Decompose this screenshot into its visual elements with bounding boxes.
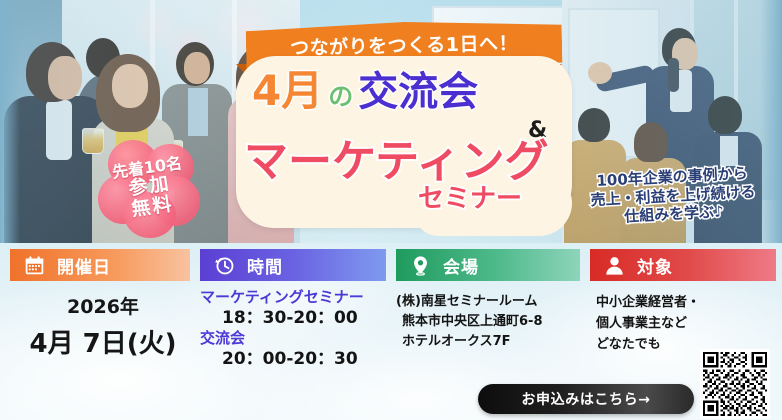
info-content-target: 中小企業経営者・ 個人事業主など どなたでも <box>596 292 780 355</box>
speaker-hand <box>588 62 612 84</box>
info-header-place: 会場 <box>396 249 580 281</box>
venue-name: (株)南星セミナールーム <box>396 292 592 312</box>
event-year: 2026年 <box>10 292 196 319</box>
title-month: 4月 <box>252 70 323 112</box>
info-content-time: マーケティングセミナー 18：30-20：00 交流会 20：00-20：30 <box>200 288 390 370</box>
target-line-2: 個人事業主など <box>596 313 780 334</box>
info-content-place: (株)南星セミナールーム 熊本市中央区上通町6-8 ホテルオークス7F <box>396 292 592 352</box>
person-senior-man-shirt <box>188 88 208 136</box>
info-header-time: 時間 <box>200 249 386 281</box>
clock-icon <box>214 255 235 276</box>
time-item-label: 交流会 <box>200 329 390 348</box>
info-header-target: 対象 <box>590 249 776 281</box>
seminar-caption: 100年企業の事例から 売上・利益を上げ続ける 仕組みを学ぶ♪ <box>565 162 782 229</box>
time-item-label: マーケティングセミナー <box>200 288 390 307</box>
time-item-value: 20：00-20：30 <box>200 348 390 370</box>
person-front-woman-face <box>112 64 148 108</box>
title-line-1: 4月 の 交流会 <box>252 70 572 112</box>
person-icon <box>604 255 625 276</box>
audience-member-head <box>578 108 610 142</box>
info-header-date: 開催日 <box>10 249 190 281</box>
venue-floor: ホテルオークス7F <box>396 332 592 352</box>
qr-code-image <box>703 352 767 416</box>
apply-button[interactable]: お申込みはこちら→ <box>478 384 694 414</box>
qr-code[interactable] <box>700 349 770 419</box>
event-date: 4月 7日(火) <box>10 323 196 360</box>
audience-member-head <box>634 122 668 162</box>
person-front-man-face <box>48 56 82 100</box>
location-pin-icon <box>410 255 431 276</box>
info-header-time-label: 時間 <box>247 253 283 278</box>
event-banner: AR つながりをつくる1日へ！ 4月 の <box>0 0 782 420</box>
person-senior-man-face <box>184 52 210 84</box>
free-admission-badge: 先着10名 参加 無料 <box>98 140 202 238</box>
badge-text: 先着10名 参加 無料 <box>92 133 209 245</box>
audience-member-head <box>708 96 742 134</box>
title-event-marketing: マーケティング <box>244 140 548 184</box>
microphone-icon <box>668 58 679 92</box>
info-header-date-label: 開催日 <box>57 253 111 278</box>
calendar-icon <box>24 255 45 276</box>
info-header-bars: 開催日 時間 会場 対象 <box>0 249 782 281</box>
venue-address: 熊本市中央区上通町6-8 <box>396 312 592 332</box>
badge-line-3: 無料 <box>130 195 174 221</box>
title-event-seminar: セミナー <box>418 186 522 212</box>
info-header-target-label: 対象 <box>637 253 673 278</box>
photo-edge-fade-left <box>0 0 20 243</box>
target-line-1: 中小企業経営者・ <box>596 292 780 313</box>
apply-button-label: お申込みはこちら→ <box>521 389 650 409</box>
info-header-place-label: 会場 <box>443 253 479 278</box>
event-title: 4月 の 交流会 & マーケティング セミナー <box>236 56 576 234</box>
person-front-man-shirt <box>46 100 72 160</box>
title-event-networking: 交流会 <box>358 72 478 112</box>
info-content-date: 2026年 4月 7日(火) <box>10 292 196 360</box>
time-item-value: 18：30-20：00 <box>200 307 390 329</box>
title-particle: の <box>328 84 353 109</box>
audience-member-shirt <box>720 136 738 166</box>
